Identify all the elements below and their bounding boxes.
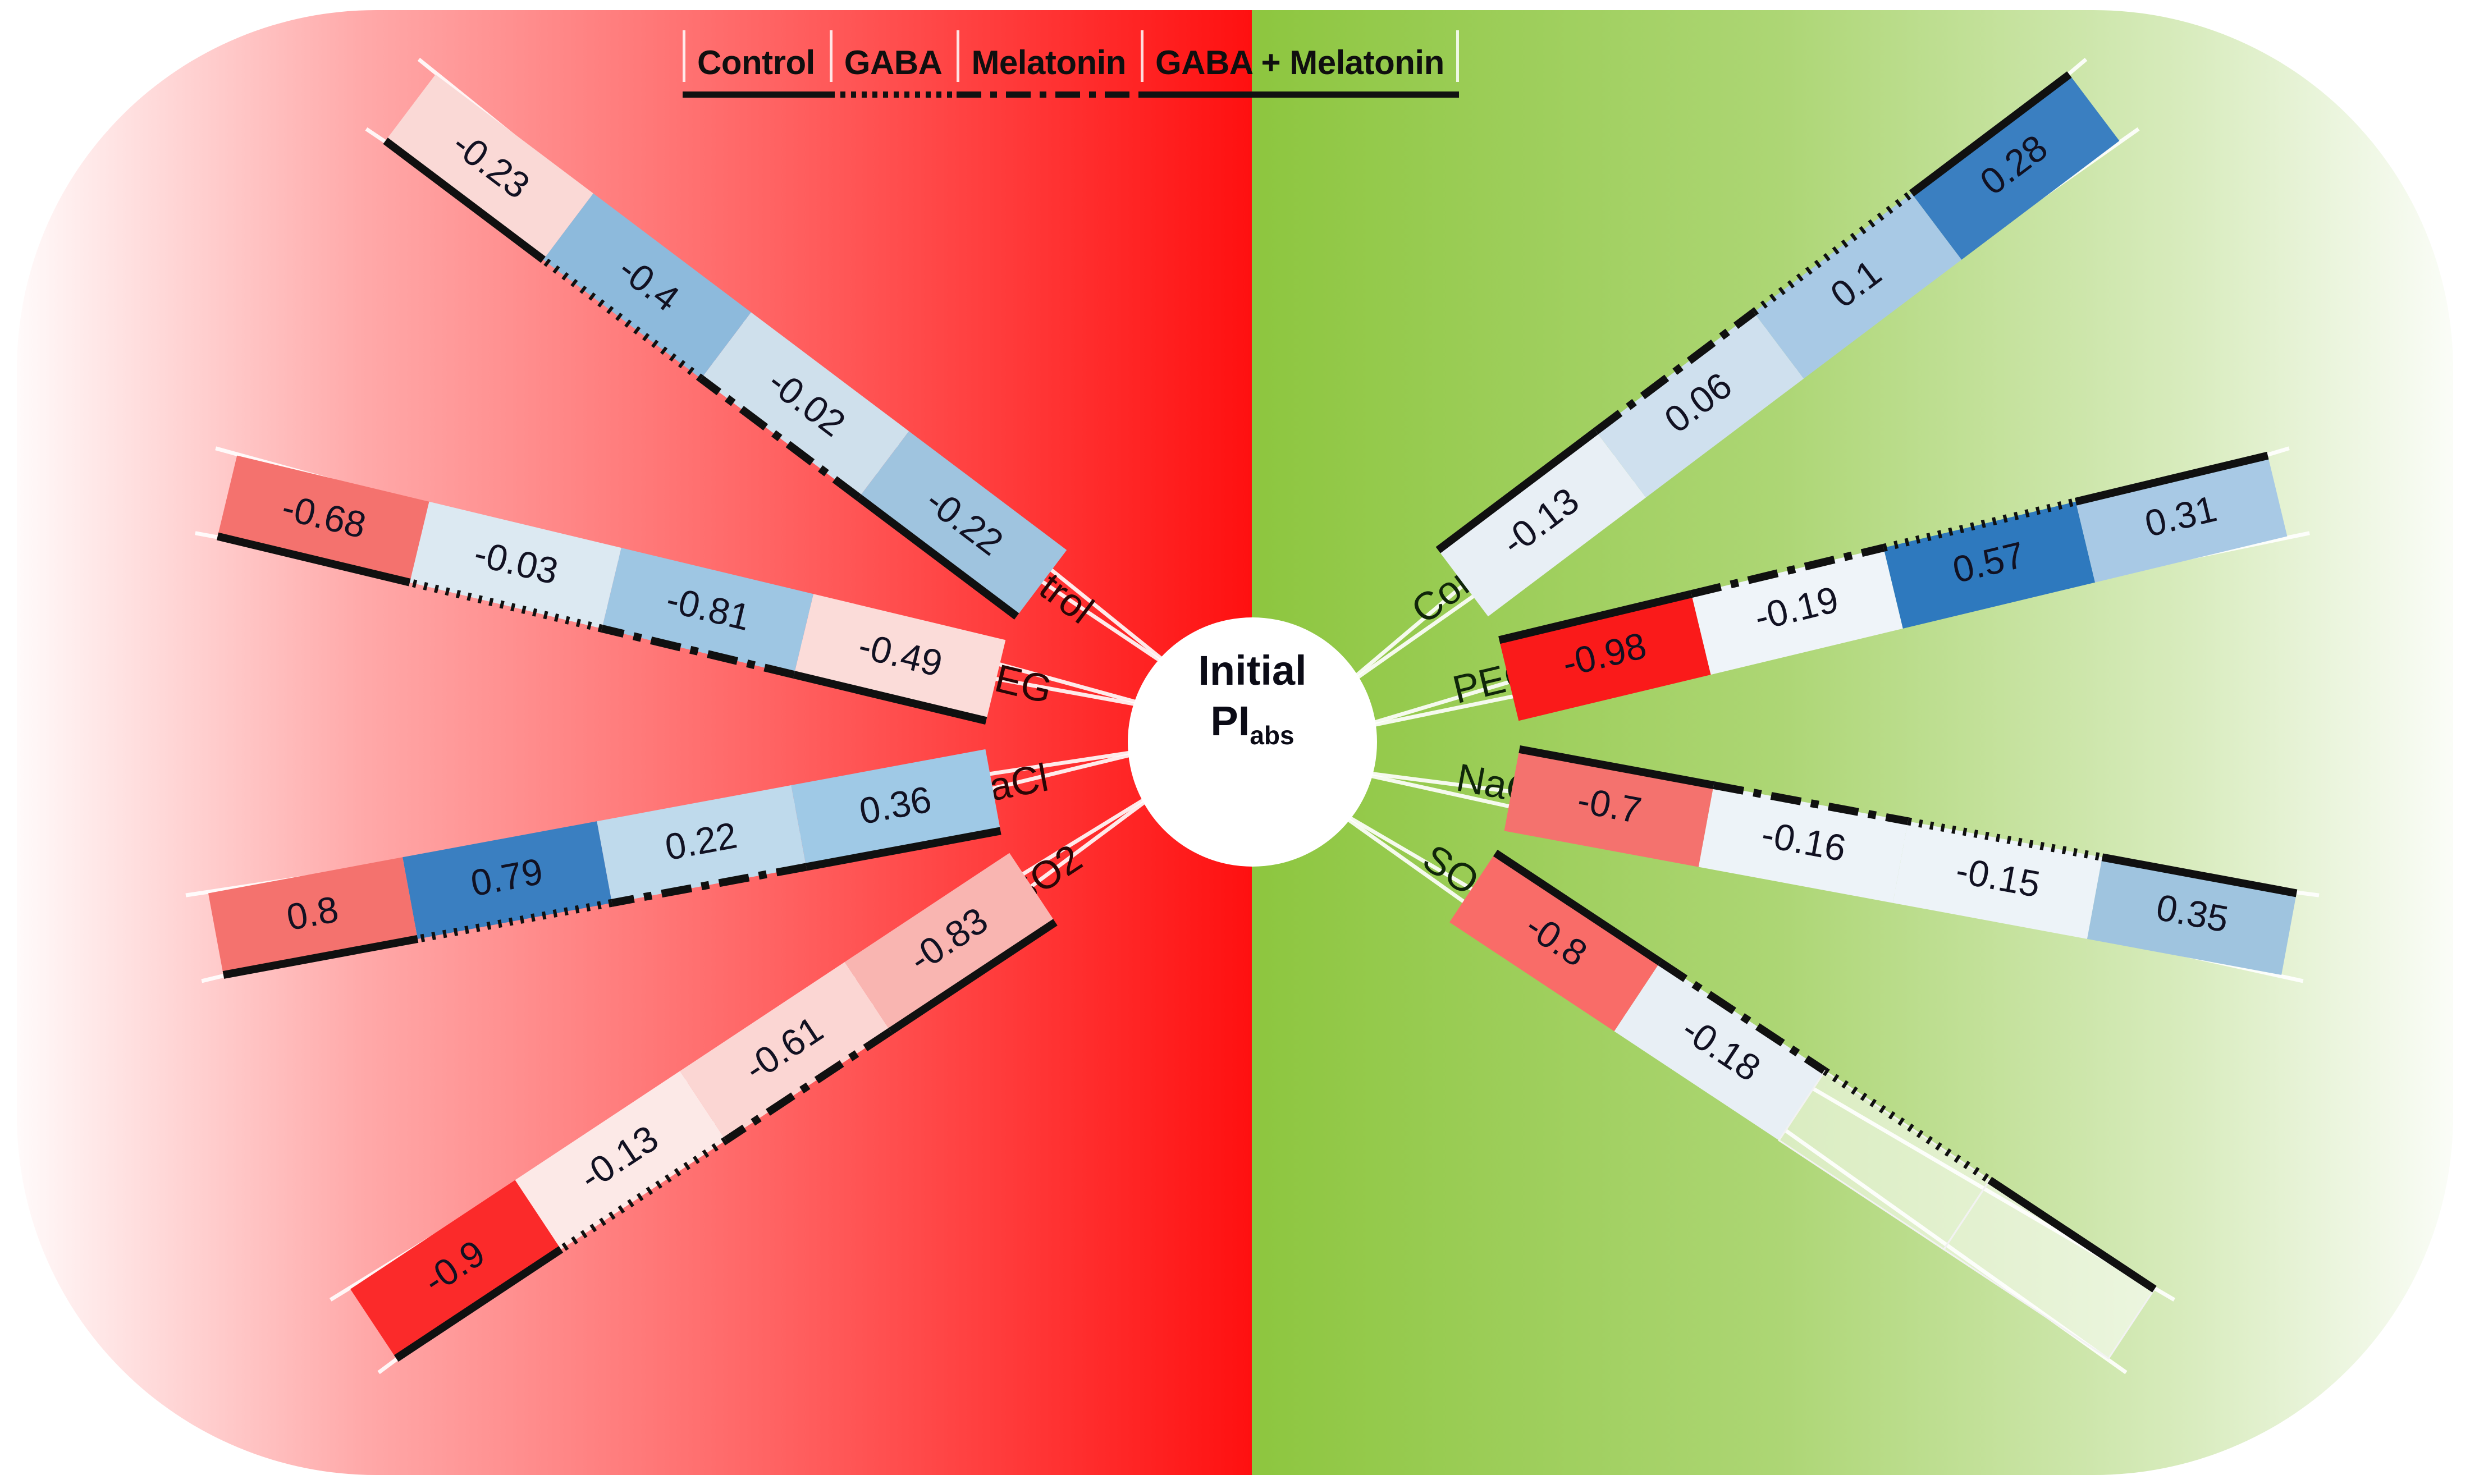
legend-rule-gaba bbox=[830, 91, 957, 98]
legend-label-control: Control bbox=[697, 46, 815, 80]
legend-divider bbox=[830, 30, 833, 82]
legend-divider bbox=[1456, 30, 1459, 82]
legend-divider bbox=[1141, 30, 1143, 82]
legend-item-2[interactable]: Melatonin bbox=[957, 27, 1141, 99]
legend-divider bbox=[683, 30, 685, 82]
legend-rule-melatonin bbox=[957, 91, 1141, 98]
legend-item-0[interactable]: Control bbox=[683, 27, 830, 99]
legend-label-melatonin: Melatonin bbox=[971, 46, 1126, 80]
figure-canvas: Control-0.22-0.02-0.4-0.23PEG-0.49-0.81-… bbox=[0, 0, 2470, 1484]
legend-rule-gaba-melatonin bbox=[1141, 91, 1459, 98]
center-hub-label: Initial PIabs bbox=[1157, 645, 1348, 751]
legend-rule-control bbox=[683, 91, 830, 98]
legend-item-3[interactable]: GABA + Melatonin bbox=[1141, 27, 1459, 99]
center-label-line1: Initial bbox=[1198, 647, 1306, 694]
legend-divider bbox=[957, 30, 959, 82]
legend-label-gaba-melatonin: GABA + Melatonin bbox=[1155, 46, 1444, 80]
center-label-line2: PI bbox=[1210, 698, 1250, 744]
center-label-subscript: abs bbox=[1250, 721, 1294, 750]
legend: Control GABA Melatonin GABA + Melatonin bbox=[683, 27, 1839, 99]
right-panel-bg bbox=[1252, 10, 2453, 1475]
legend-label-gaba: GABA bbox=[844, 46, 943, 80]
legend-item-1[interactable]: GABA bbox=[830, 27, 957, 99]
